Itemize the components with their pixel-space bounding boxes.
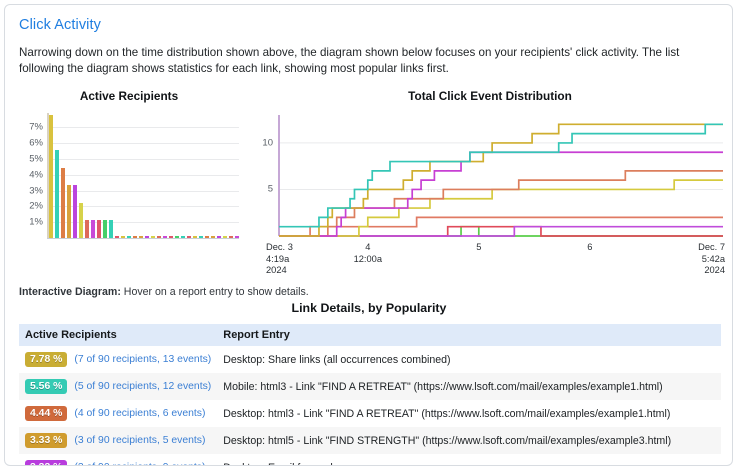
bar[interactable] [97,220,101,238]
bar-chart-title: Active Recipients [19,89,239,103]
cell-report-entry[interactable]: Mobile: html3 - Link "FIND A RETREAT" (h… [217,373,721,400]
bar[interactable] [187,236,191,238]
percent-badge: 3.33 % [25,460,67,466]
line-y-tick-label: 10 [255,137,273,148]
link-details-table: Active Recipients Report Entry 7.78 %(7 … [19,324,721,466]
table-header-row: Active Recipients Report Entry [19,324,721,346]
bar-y-tick-label: 4% [19,169,43,180]
line-series[interactable] [279,227,723,236]
interactive-diagram-label: Interactive Diagram: [19,286,121,298]
col-header-active-recipients: Active Recipients [19,324,217,346]
bar-y-tick-label: 6% [19,138,43,149]
line-series[interactable] [279,227,723,236]
bar-gridline [47,175,239,176]
percent-badge: 4.44 % [25,406,67,421]
bar[interactable] [91,220,95,238]
table-row[interactable]: 3.33 %(3 of 90 recipients, 9 events)Desk… [19,454,721,466]
bar[interactable] [235,236,239,238]
intro-paragraph: Narrowing down on the time distribution … [19,45,719,77]
active-recipients-bar-chart[interactable]: 7%6%5%4%3%2%1% [19,109,241,244]
bar-y-tick-label: 7% [19,122,43,133]
bar-gridline [47,159,239,160]
bar[interactable] [115,236,119,238]
bar-y-tick-label: 3% [19,185,43,196]
line-chart-title: Total Click Event Distribution [255,89,725,103]
bar[interactable] [181,236,185,238]
recipients-count: (5 of 90 recipients, 12 events) [74,381,211,392]
table-row[interactable]: 7.78 %(7 of 90 recipients, 13 events)Des… [19,346,721,373]
bar-y-tick-label: 2% [19,201,43,212]
bar[interactable] [229,236,233,238]
cell-report-entry[interactable]: Desktop: html5 - Link "FIND STRENGTH" (h… [217,427,721,454]
bar[interactable] [133,236,137,238]
line-series[interactable] [279,227,723,236]
click-activity-card: Click Activity Narrowing down on the tim… [4,4,733,466]
bar[interactable] [205,236,209,238]
cell-report-entry[interactable]: Desktop: Share links (all occurrences co… [217,346,721,373]
bar[interactable] [193,236,197,238]
link-details-title: Link Details, by Popularity [19,301,719,315]
recipients-count: (3 of 90 recipients, 5 events) [74,435,205,446]
line-chart-svg [255,109,725,244]
bar[interactable] [79,203,83,238]
bar-gridline [47,143,239,144]
line-series[interactable] [279,124,723,236]
cell-active-recipients: 4.44 %(4 of 90 recipients, 6 events) [19,400,217,427]
bar[interactable] [55,150,59,238]
page-root: Click Activity Narrowing down on the tim… [0,0,737,468]
page-title: Click Activity [19,17,101,33]
bar[interactable] [217,236,221,238]
cell-active-recipients: 3.33 %(3 of 90 recipients, 9 events) [19,454,217,466]
bar[interactable] [139,236,143,238]
bar[interactable] [127,236,131,238]
bar[interactable] [145,236,149,238]
bar[interactable] [199,236,203,238]
interactive-diagram-text: Hover on a report entry to show details. [121,286,309,298]
cell-report-entry[interactable]: Desktop: Email forwards [217,454,721,466]
bar[interactable] [109,220,113,238]
line-x-tick-label: Dec. 7 5:42a 2024 [665,242,725,277]
bar-gridline [47,127,239,128]
bar[interactable] [175,236,179,238]
line-x-tick-label: 6 [550,242,630,254]
line-x-tick-label: 4 12:00a [328,242,408,265]
interactive-diagram-note: Interactive Diagram: Hover on a report e… [19,286,309,298]
bar[interactable] [85,220,89,238]
bar[interactable] [223,236,227,238]
cell-active-recipients: 3.33 %(3 of 90 recipients, 5 events) [19,427,217,454]
cell-report-entry[interactable]: Desktop: html3 - Link "FIND A RETREAT" (… [217,400,721,427]
table-row[interactable]: 3.33 %(3 of 90 recipients, 5 events)Desk… [19,427,721,454]
bar-x-axis [47,238,239,239]
bar[interactable] [73,185,77,238]
percent-badge: 3.33 % [25,433,67,448]
recipients-count: (4 of 90 recipients, 6 events) [74,408,205,419]
bar[interactable] [61,168,65,238]
table-row[interactable]: 5.56 %(5 of 90 recipients, 12 events)Mob… [19,373,721,400]
percent-badge: 5.56 % [25,379,67,394]
line-x-tick-label: 5 [439,242,519,254]
line-y-tick-label: 5 [255,184,273,195]
cell-active-recipients: 7.78 %(7 of 90 recipients, 13 events) [19,346,217,373]
line-x-tick-label: Dec. 3 4:19a 2024 [266,242,336,277]
table-body: 7.78 %(7 of 90 recipients, 13 events)Des… [19,346,721,466]
bar-y-tick-label: 5% [19,153,43,164]
bar[interactable] [169,236,173,238]
table-row[interactable]: 4.44 %(4 of 90 recipients, 6 events)Desk… [19,400,721,427]
bar[interactable] [67,185,71,238]
bar[interactable] [121,236,125,238]
recipients-count: (7 of 90 recipients, 13 events) [74,354,211,365]
bar[interactable] [151,236,155,238]
cell-active-recipients: 5.56 %(5 of 90 recipients, 12 events) [19,373,217,400]
bar[interactable] [103,220,107,238]
bar[interactable] [211,236,215,238]
percent-badge: 7.78 % [25,352,67,367]
line-series[interactable] [279,152,723,236]
recipients-count: (3 of 90 recipients, 9 events) [74,462,205,466]
col-header-report-entry: Report Entry [217,324,721,346]
bar[interactable] [157,236,161,238]
bar[interactable] [163,236,167,238]
bar[interactable] [49,115,53,238]
total-click-event-distribution-line-chart[interactable]: 105Dec. 3 4:19a 20244 12:00a56Dec. 7 5:4… [255,109,725,244]
bar-y-tick-label: 1% [19,217,43,228]
